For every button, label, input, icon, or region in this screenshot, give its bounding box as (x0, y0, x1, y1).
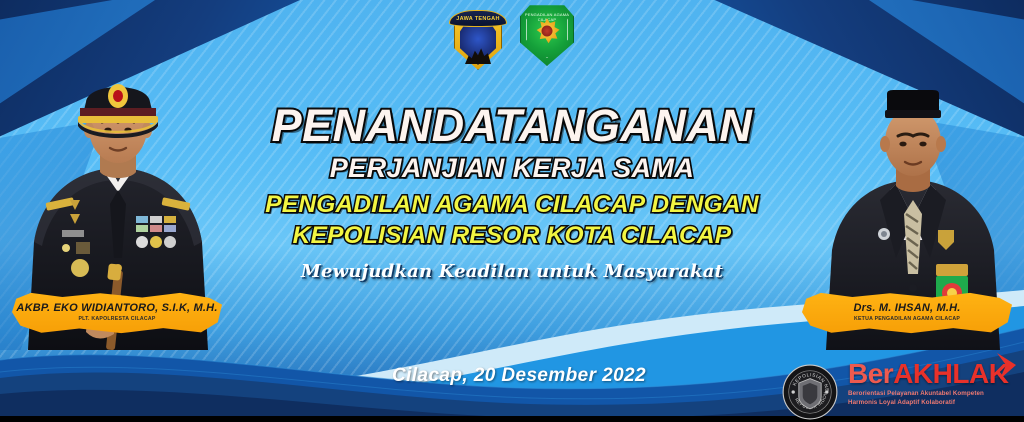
banner-root: JAWA TENGAH PENGADILAN AGAMA CILACAP (0, 0, 1024, 422)
berakhlak-tagline-line-1: Berorientasi Pelayanan Akuntabel Kompete… (848, 390, 1016, 399)
event-date: Cilacap, 20 Desember 2022 (392, 365, 646, 387)
berakhlak-swoosh-icon (994, 351, 1020, 381)
jawa-tengah-ribbon: JAWA TENGAH (449, 10, 507, 27)
pengadilan-agama-emblem: PENGADILAN AGAMA CILACAP (520, 4, 574, 66)
headline-parties: PENGADILAN AGAMA CILACAP DENGAN KEPOLISI… (202, 191, 822, 250)
jawa-tengah-ribbon-text: JAWA TENGAH (456, 16, 499, 22)
left-person-title: PLT. KAPOLRESTA CILACAP (78, 317, 155, 322)
kepolisian-negara-seal: KEPOLISIAN NEGARA REPUBLIK INDONESIA (782, 364, 838, 420)
headline-line-1: PENANDATANGANAN (202, 104, 822, 148)
emblem-group: JAWA TENGAH PENGADILAN AGAMA CILACAP (450, 4, 574, 72)
berakhlak-tagline: Berorientasi Pelayanan Akuntabel Kompete… (848, 390, 1016, 408)
left-person-name: AKBP. EKO WIDIANTORO, S.I.K, M.H. (16, 303, 217, 314)
berakhlak-akhlak: AKHLAK (893, 358, 1008, 389)
left-name-plate: AKBP. EKO WIDIANTORO, S.I.K, M.H. PLT. K… (12, 292, 222, 334)
right-name-plate: Drs. M. IHSAN, M.H. KETUA PENGADILAN AGA… (802, 292, 1012, 334)
right-person-name: Drs. M. IHSAN, M.H. (853, 303, 960, 314)
headline-block: PENANDATANGANAN PERJANJIAN KERJA SAMA PE… (202, 104, 822, 282)
polda-jawa-tengah-emblem: JAWA TENGAH (450, 4, 506, 72)
headline-line-2: PERJANJIAN KERJA SAMA (202, 155, 822, 182)
right-person-title: KETUA PENGADILAN AGAMA CILACAP (854, 317, 960, 322)
headline-party-2: KEPOLISIAN RESOR KOTA CILACAP (202, 222, 822, 250)
berakhlak-wordmark: BerAKHLAK (848, 360, 1016, 388)
berakhlak-ber: Ber (848, 358, 893, 389)
berakhlak-tagline-line-2: Harmonis Loyal Adaptif Kolaboratif (848, 399, 1016, 408)
berakhlak-logo: BerAKHLAK Berorientasi Pelayanan Akuntab… (848, 360, 1016, 408)
headline-party-1: PENGADILAN AGAMA CILACAP DENGAN (202, 191, 822, 219)
headline-tagline: Mewujudkan Keadilan untuk Masyarakat (202, 261, 822, 282)
